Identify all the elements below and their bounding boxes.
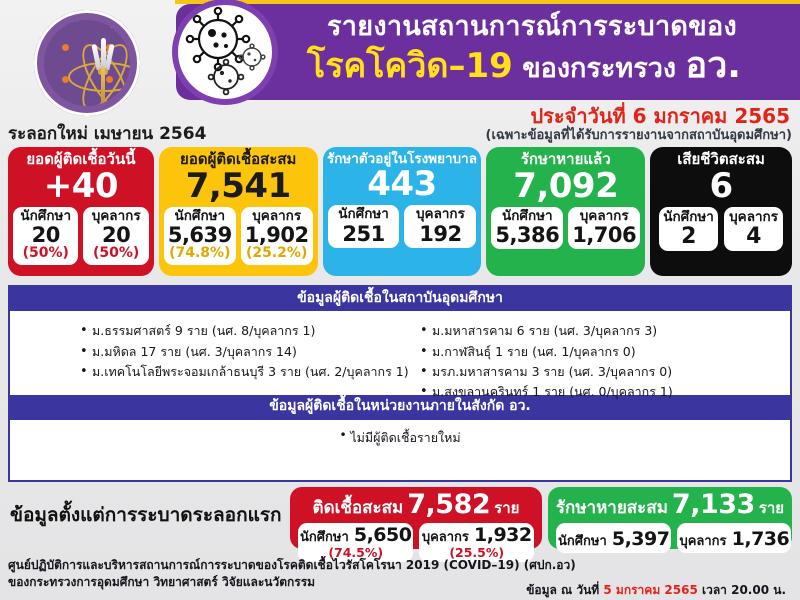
panel1-left-column: ม.ธรรมศาสตร์ 9 ราย (นศ. 8/บุคลากร 1) ม.ม… — [10, 321, 400, 395]
sub-label: นักศึกษา — [492, 209, 562, 225]
sub-label: บุคลากร — [242, 209, 312, 225]
sub-value: 5,397 — [612, 528, 670, 550]
card-sub-staff: บุคลากร 4 — [724, 207, 783, 252]
footer-line1: ศูนย์ปฏิบัติการและบริหารสถานการณ์การระบา… — [8, 557, 792, 574]
summary-sub-students: นักศึกษา 5,397 — [556, 523, 671, 553]
list-item: มรภ.มหาสารคาม 3 ราย (นศ. 3/บุคลากร 0) — [420, 362, 790, 382]
sub-label: บุคลากร — [84, 209, 147, 225]
list-item: ม.มหาสารคาม 6 ราย (นศ. 3/บุคลากร 3) — [420, 321, 790, 341]
ministry-emblem-icon: กระทรวงการอุดมศึกษา วิทยาศาสตร์ วิจัยและ… — [28, 8, 146, 120]
sub-label: นักศึกษา — [300, 530, 349, 545]
list-item: ม.สงขลานครินทร์ 1 ราย (นศ. 0/บุคลากร 1) — [420, 382, 790, 402]
report-date-note: (เฉพาะข้อมูลที่ได้รับการรายงานจากสถาบันอ… — [486, 124, 792, 145]
sub-value: 20 — [14, 224, 77, 246]
card-sub-staff: บุคลากร 192 — [404, 205, 476, 248]
card-sub-students: นักศึกษา 251 — [328, 205, 400, 248]
panel1-right-column: ม.มหาสารคาม 6 ราย (นศ. 3/บุคลากร 3) ม.กา… — [400, 321, 790, 395]
stat-card-recovered: รักษาหายแล้ว 7,092 นักศึกษา 5,386 บุคลาก… — [486, 147, 645, 276]
asof-suffix: เวลา 20.00 น. — [698, 583, 786, 597]
sub-value: 192 — [405, 223, 475, 245]
bottom-summary-row: ข้อมูลตั้งแต่การระบาดระลอกแรก ติดเชื้อสะ… — [8, 487, 792, 549]
panel1-heading: ข้อมูลผู้ติดเชื้อในสถาบันอุดมศึกษา — [10, 287, 790, 311]
sub-label: บุคลากร — [569, 209, 639, 225]
summary-title: ติดเชื้อสะสม — [313, 494, 404, 521]
card-sub-students: นักศึกษา 20 (50%) — [13, 207, 78, 265]
panel2-body: ไม่มีผู้ติดเชื้อรายใหม่ — [10, 420, 790, 448]
stat-card-cumulative-cases: ยอดผู้ติดเชื้อสะสม 7,541 นักศึกษา 5,639 … — [159, 147, 318, 276]
summary-recovered-total: รักษาหายสะสม 7,133 ราย นักศึกษา 5,397 บุ… — [548, 487, 792, 549]
sub-percent: (50%) — [84, 246, 147, 261]
sub-value: 1,932 — [474, 524, 532, 546]
info-panel: ข้อมูลผู้ติดเชื้อในสถาบันอุดมศึกษา ม.ธรร… — [8, 285, 792, 482]
list-item: ไม่มีผู้ติดเชื้อรายใหม่ — [339, 428, 460, 448]
stat-card-deaths: เสียชีวิตสะสม 6 นักศึกษา 2 บุคลากร 4 — [650, 147, 792, 276]
sub-percent: (74.8%) — [165, 246, 235, 261]
sub-label: นักศึกษา — [329, 207, 399, 223]
sub-value: 1,706 — [569, 224, 639, 246]
summary-infected-total: ติดเชื้อสะสม 7,582 ราย นักศึกษา 5,650 (7… — [290, 487, 542, 549]
stat-card-row: ยอดผู้ติดเชื้อวันนี้ +40 นักศึกษา 20 (50… — [8, 147, 792, 276]
sub-label: นักศึกษา — [14, 209, 77, 225]
header-title-agency: อว. — [685, 45, 741, 86]
sub-label: นักศึกษา — [165, 209, 235, 225]
header-title-line2: โรคโควิด–19 ของกระทรวง อว. — [256, 46, 792, 86]
sub-value: 5,650 — [354, 524, 412, 546]
summary-unit: ราย — [759, 496, 784, 520]
wave-label: ระลอกใหม่ เมษายน 2564 — [8, 120, 206, 147]
card-value: 443 — [367, 167, 436, 201]
infographic-page: กระทรวงการอุดมศึกษา วิทยาศาสตร์ วิจัยและ… — [0, 0, 800, 600]
summary-unit: ราย — [494, 496, 519, 520]
card-value: 7,541 — [186, 169, 291, 203]
footer: ศูนย์ปฏิบัติการและบริหารสถานการณ์การระบา… — [8, 557, 792, 591]
stat-card-new-cases: ยอดผู้ติดเชื้อวันนี้ +40 นักศึกษา 20 (50… — [8, 147, 154, 276]
sub-value: 5,386 — [492, 224, 562, 246]
bottom-summary-label: ข้อมูลตั้งแต่การระบาดระลอกแรก — [10, 500, 282, 530]
summary-value: 7,133 — [672, 489, 755, 520]
list-item: ม.มหิดล 17 ราย (นศ. 3/บุคลากร 14) — [80, 342, 400, 362]
sub-percent: (50%) — [14, 246, 77, 261]
summary-title: รักษาหายสะสม — [556, 494, 668, 521]
card-value: 6 — [709, 169, 732, 203]
card-sub-staff: บุคลากร 1,902 (25.2%) — [241, 207, 313, 265]
sub-label: บุคลากร — [422, 530, 469, 545]
panel1-body: ม.ธรรมศาสตร์ 9 ราย (นศ. 8/บุคลากร 1) ม.ม… — [10, 311, 790, 395]
header-title-covid: โรคโควิด–19 — [307, 46, 513, 86]
stat-card-in-hospital: รักษาตัวอยู่ในโรงพยาบาล 443 นักศึกษา 251… — [323, 147, 482, 276]
card-sub-students: นักศึกษา 5,639 (74.8%) — [164, 207, 236, 265]
sub-value: 1,736 — [732, 528, 790, 550]
header-title-of: ของกระทรวง — [513, 53, 686, 84]
summary-value: 7,582 — [407, 489, 490, 520]
coronavirus-icon — [178, 5, 272, 99]
list-item: ม.กาฬสินธุ์ 1 ราย (นศ. 1/บุคลากร 0) — [420, 342, 790, 362]
summary-sub-staff: บุคลากร 1,736 — [677, 523, 791, 553]
sub-label: บุคลากร — [405, 207, 475, 223]
sub-value: 2 — [660, 225, 717, 248]
header-title-line1: รายงานสถานการณ์การระบาดของ — [282, 12, 782, 42]
sub-value: 251 — [329, 223, 399, 245]
list-item: ม.ธรรมศาสตร์ 9 ราย (นศ. 8/บุคลากร 1) — [80, 321, 400, 341]
sub-label: นักศึกษา — [558, 534, 607, 549]
asof-date: 5 มกราคม 2565 — [603, 583, 697, 597]
card-sub-staff: บุคลากร 1,706 — [568, 207, 640, 250]
footer-asof: ข้อมูล ณ วันที่ 5 มกราคม 2565 เวลา 20.00… — [526, 581, 786, 600]
card-value: +40 — [44, 169, 118, 203]
asof-prefix: ข้อมูล ณ วันที่ — [526, 583, 603, 597]
sub-value: 1,902 — [242, 224, 312, 246]
sub-value: 20 — [84, 224, 147, 246]
card-sub-students: นักศึกษา 2 — [659, 207, 718, 252]
card-sub-staff: บุคลากร 20 (50%) — [83, 207, 148, 265]
sub-label: บุคลากร — [679, 534, 726, 549]
card-value: 7,092 — [513, 169, 618, 203]
list-item: ม.เทคโนโลยีพระจอมเกล้าธนบุรี 3 ราย (นศ. … — [80, 362, 400, 382]
sub-value: 4 — [725, 225, 782, 248]
sub-label: บุคลากร — [725, 210, 782, 226]
card-sub-students: นักศึกษา 5,386 — [491, 207, 563, 250]
sub-label: นักศึกษา — [660, 210, 717, 226]
sub-value: 5,639 — [165, 224, 235, 246]
sub-percent: (25.2%) — [242, 246, 312, 261]
